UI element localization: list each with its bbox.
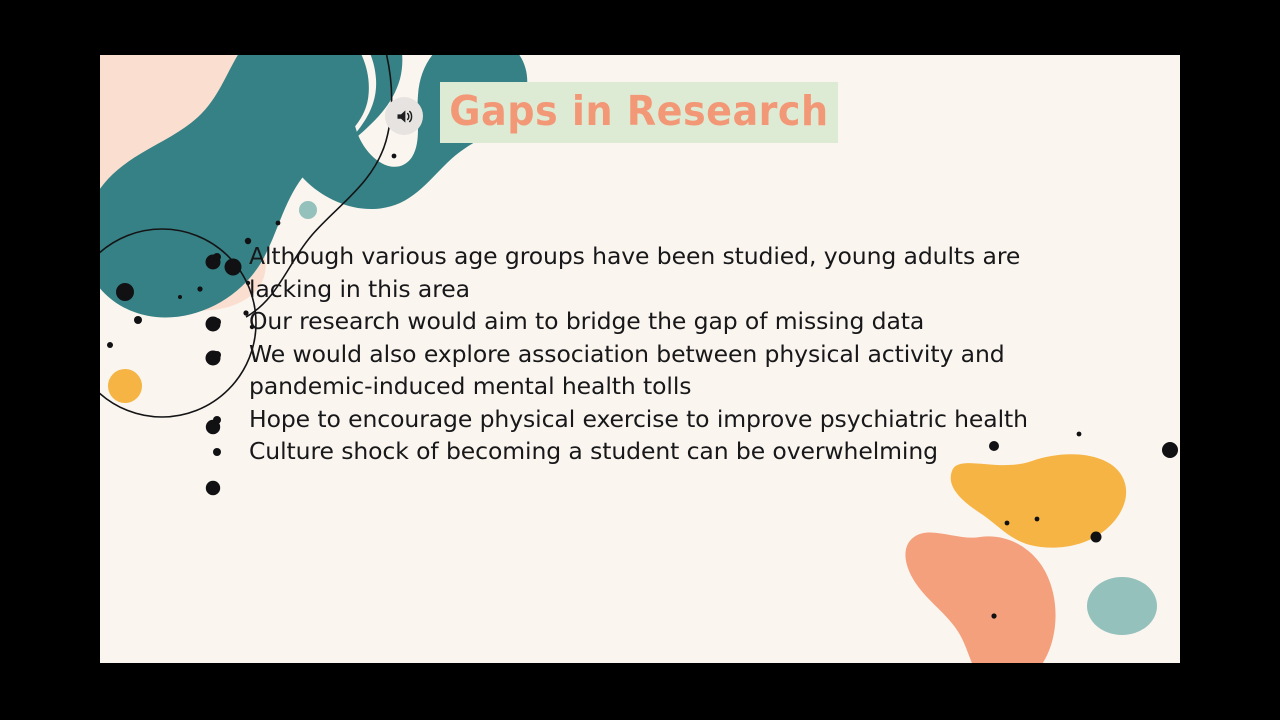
dot-decoration: [178, 295, 182, 299]
dot-decoration: [116, 283, 134, 301]
salmon-crescent-blob-decoration: [905, 532, 1055, 663]
list-item: We would also explore association betwee…: [200, 338, 1050, 403]
dot-decoration: [1035, 517, 1040, 522]
dot-decoration: [1077, 432, 1082, 437]
list-item: Hope to encourage physical exercise to i…: [200, 403, 1050, 436]
dot-decoration: [107, 342, 113, 348]
dot-decoration: [1091, 532, 1102, 543]
list-item: Although various age groups have been st…: [200, 240, 1050, 305]
slide-bullet-list: Although various age groups have been st…: [200, 240, 1050, 468]
list-item: Our research would aim to bridge the gap…: [200, 305, 1050, 338]
dot-decoration: [276, 221, 281, 226]
amber-circle-decoration: [108, 369, 142, 403]
dot-decoration: [1162, 442, 1178, 458]
audio-speaker-button[interactable]: [385, 97, 423, 135]
slide-canvas: Gaps in Research Although various age gr…: [100, 55, 1180, 663]
dot-decoration: [134, 316, 142, 324]
volume-speaker-icon: [394, 106, 415, 127]
list-item: Culture shock of becoming a student can …: [200, 435, 1050, 468]
slide-title-container: Gaps in Research: [440, 82, 868, 143]
dot-decoration: [392, 154, 397, 159]
teal-dot-decoration: [299, 201, 317, 219]
presentation-viewport: Gaps in Research Although various age gr…: [0, 0, 1280, 720]
dot-decoration: [206, 481, 220, 495]
page-title: Gaps in Research: [440, 82, 838, 143]
amber-blob-decoration: [951, 454, 1126, 547]
dot-decoration: [991, 613, 996, 618]
dot-decoration: [1005, 521, 1010, 526]
teal-ellipse-decoration: [1087, 577, 1157, 635]
